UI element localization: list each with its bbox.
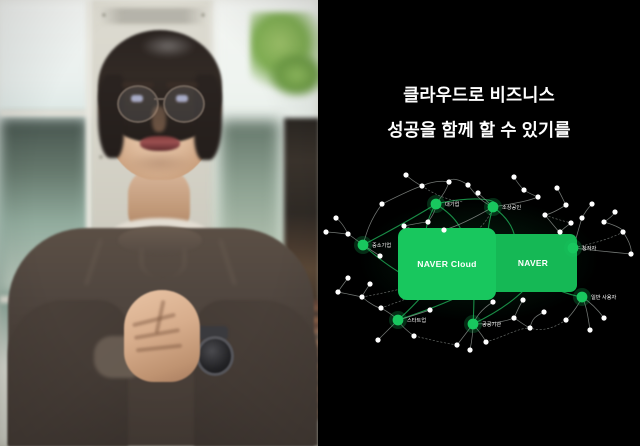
network-dot-node [579,215,584,220]
lens-glint-right [176,95,188,102]
screen: 클라우드로 비즈니스 성공을 함께 할 수 있기를 [0,0,640,446]
naver-box-label: NAVER [518,258,548,268]
hub-node-label: 일반 사용자 [591,293,617,301]
hub-node-circle [431,199,442,210]
chin-shadow [126,152,194,174]
network-dot-node [403,172,408,177]
network-dot-node [563,202,568,207]
network-dot-node [520,297,525,302]
network-dot-node [490,299,495,304]
network-dot-node [375,337,380,342]
pillar-fixture-dot [102,13,106,17]
network-dot-node [511,315,516,320]
network-dot-node [612,209,617,214]
network-dot-node [467,347,472,352]
presentation-slide-panel: 클라우드로 비즈니스 성공을 함께 할 수 있기를 [318,0,640,446]
center-boxes: NAVER NAVER Cloud [398,228,577,300]
network-dot-node [345,231,350,236]
hub-node-label: 중소기업 [372,241,391,249]
ecosystem-network-diagram: NAVER NAVER Cloud 대기업소상공인중소기업창작자일반 사용자스타… [318,160,640,360]
nose [152,106,166,132]
mouth [140,136,180,151]
network-dot-node [367,281,372,286]
hub-node-circle [577,292,588,303]
network-dot-node [483,339,488,344]
hub-node-circle [468,319,479,330]
network-dot-node [377,253,382,258]
network-dot-node [587,327,592,332]
slide-title-line-2: 성공을 함께 할 수 있기를 [318,117,640,142]
network-dot-node [411,333,416,338]
network-dot-node [527,325,532,330]
network-dot-node [521,187,526,192]
hub-node-label: 대기업 [445,200,460,208]
network-dot-node [475,190,480,195]
network-dot-node [454,342,459,347]
network-dot-node [542,212,547,217]
network-dot-node [557,229,562,234]
network-dot-node [541,309,546,314]
network-dot-node [323,229,328,234]
network-dot-node [601,315,606,320]
network-dot-node [465,182,470,187]
network-dot-node [589,201,594,206]
lens-glint-left [131,95,143,102]
network-dot-node [427,307,432,312]
network-dot-node [535,194,540,199]
hub-node-circle [488,202,499,213]
hub-node-label: 소상공인 [502,203,521,211]
network-dot-node [345,275,350,280]
hub-node-circle [393,315,404,326]
network-dot-node [425,219,430,224]
network-hub-node[interactable]: 일반 사용자 [573,288,617,306]
hair-side-left [98,74,124,158]
hub-node-label: 공공기관 [482,320,501,328]
pillar-signage [100,8,206,24]
network-dot-node [601,219,606,224]
network-dot-node [335,289,340,294]
hub-node-circle [568,243,579,254]
plant-foliage-lower [268,52,318,98]
eyeglasses-bridge [154,98,165,100]
network-dot-node [554,185,559,190]
network-dot-node [378,305,383,310]
network-dot-node [419,183,424,188]
eyeglasses-lens-right [163,85,205,123]
hub-node-label: 스타트업 [407,316,426,324]
network-dot-node [568,220,573,225]
network-dot-node [333,215,338,220]
hair-highlight [140,34,196,58]
hub-node-circle [358,240,369,251]
pillar-fixture-dot [99,155,103,159]
network-dot-node [401,223,406,228]
window-frame-horizontal-top [0,110,92,116]
speaker-video-panel [0,0,318,446]
network-dot-node [446,179,451,184]
naver-cloud-box-label: NAVER Cloud [417,259,476,269]
network-dot-node [620,229,625,234]
network-dot-node [359,294,364,299]
wristwatch [196,336,234,376]
network-dot-node [379,201,384,206]
hub-node-label: 창작자 [582,244,597,252]
network-dot-node [563,317,568,322]
slide-title-line-1: 클라우드로 비즈니스 [318,82,640,107]
network-dot-node [511,174,516,179]
pillar-fixture-dot [201,13,205,17]
network-dot-node [441,227,446,232]
sweater-v-stitch [140,248,186,278]
network-dot-node [628,251,633,256]
